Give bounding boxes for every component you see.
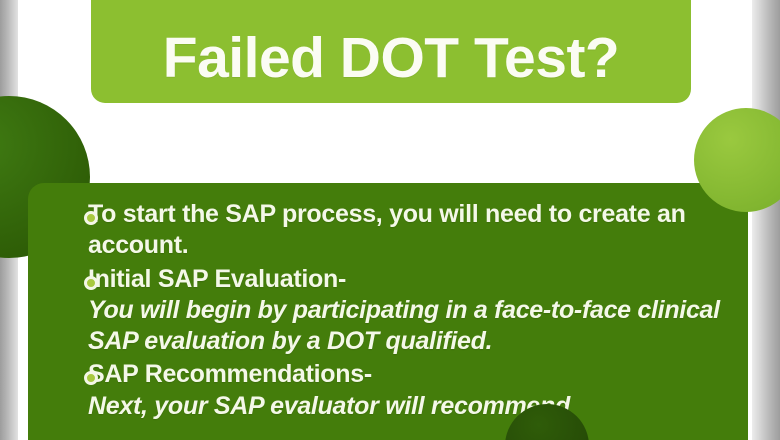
page-title: Failed DOT Test? [163,30,620,87]
list-item-heading: Initial SAP Evaluation- [88,264,730,295]
list-item: To start the SAP process, you will need … [50,199,730,262]
page-gutter-right [750,0,780,440]
sap-steps-list: To start the SAP process, you will need … [50,199,730,422]
bullet-ring-icon [84,211,98,225]
bullet-ring-icon [84,276,98,290]
list-item: Initial SAP Evaluation- You will begin b… [50,264,730,358]
list-item-heading: SAP Recommendations- [88,359,730,390]
content-card: To start the SAP process, you will need … [28,183,748,440]
list-item-detail: Next, your SAP evaluator will recommend [88,391,730,422]
list-item: SAP Recommendations- Next, your SAP eval… [50,359,730,422]
list-item-heading: To start the SAP process, you will need … [88,199,730,262]
list-item-detail: You will begin by participating in a fac… [88,295,730,358]
infographic-page: Failed DOT Test? To start the SAP proces… [0,0,780,440]
title-banner: Failed DOT Test? [91,0,691,103]
